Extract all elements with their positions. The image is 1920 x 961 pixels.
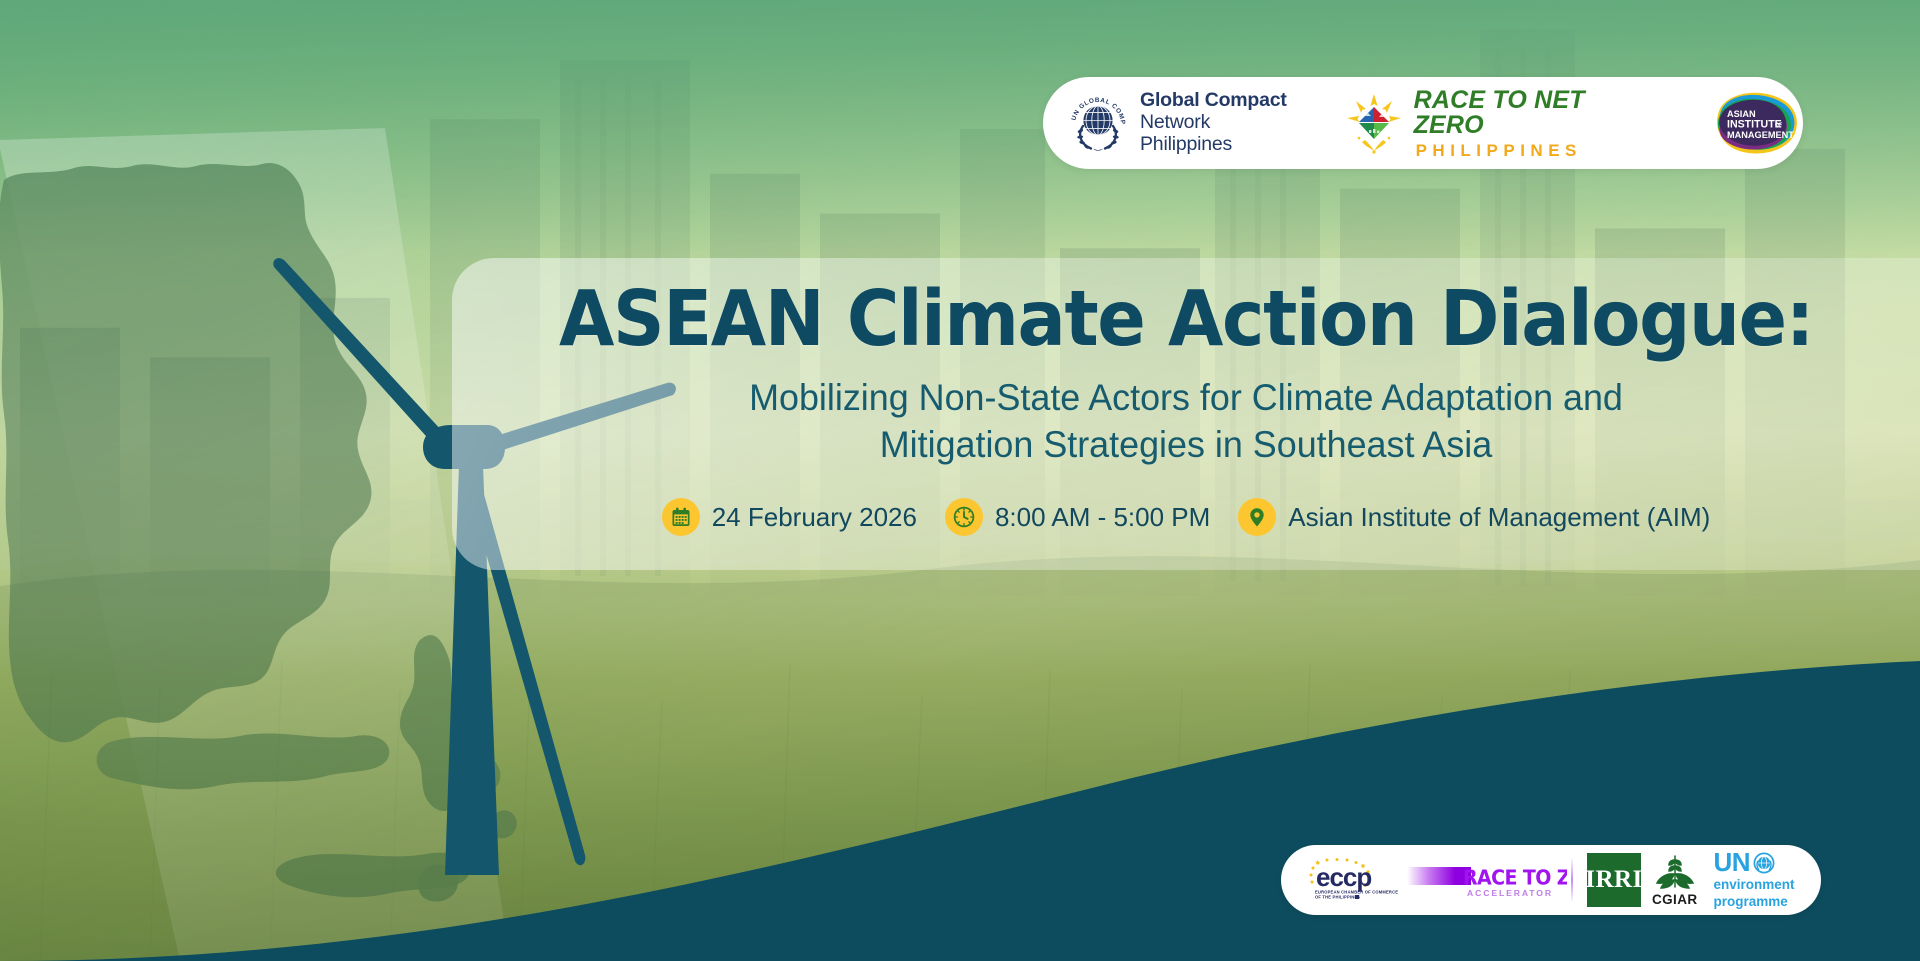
unep-line-1-row: UN (1714, 849, 1795, 877)
svg-text:ACCELERATOR: ACCELERATOR (1467, 888, 1553, 898)
un-global-compact-network-philippines-logo: UN GLOBAL COMPACT (1043, 77, 1307, 169)
race-to-net-zero-wordmark: RACE TO NET ZERO PHILIPPINES (1414, 88, 1661, 159)
aim-blob-icon: ASIAN INSTITUTE OF MANAGEMENT (1707, 89, 1803, 157)
race-to-net-zero-line-2: PHILIPPINES (1414, 142, 1661, 159)
supporting-partner-logo-bar: eccp EUROPEAN CHAMBER OF COMMERCE OF THE… (1281, 845, 1821, 915)
svg-text:ASIAN: ASIAN (1727, 109, 1756, 119)
unep-line-2: environment (1714, 877, 1795, 892)
race-to-net-zero-philippines-logo: RACE TO NET ZERO PHILIPPINES (1307, 77, 1661, 169)
organizer-logo-bar: UN GLOBAL COMPACT (1043, 77, 1803, 169)
event-date-label: 24 February 2026 (712, 502, 917, 533)
title-block: ASEAN Climate Action Dialogue: Mobilizin… (452, 258, 1920, 618)
eccp-logo: eccp EUROPEAN CHAMBER OF COMMERCE OF THE… (1281, 856, 1399, 904)
svg-text:eccp: eccp (1316, 862, 1371, 892)
race-to-zero-wordmark-icon: RACE TO ZERO ACCELERATOR (1407, 857, 1567, 903)
event-venue: Asian Institute of Management (AIM) (1238, 498, 1710, 536)
philippine-sun-diamond-icon (1343, 92, 1405, 154)
page-subtitle: Mobilizing Non-State Actors for Climate … (474, 375, 1898, 468)
irri-logo: IRRI (1573, 853, 1641, 907)
svg-text:OF: OF (1775, 123, 1782, 129)
calendar-icon (662, 498, 700, 536)
svg-text:RACE TO ZERO: RACE TO ZERO (1463, 866, 1567, 890)
teal-bottom-curve (0, 661, 1920, 961)
race-to-net-zero-line-1: RACE TO NET ZERO (1414, 88, 1661, 138)
clock-icon (945, 498, 983, 536)
un-emblem-icon (1753, 852, 1775, 874)
svg-text:MANAGEMENT: MANAGEMENT (1727, 130, 1794, 140)
eccp-wordmark-icon: eccp EUROPEAN CHAMBER OF COMMERCE OF THE… (1303, 856, 1399, 904)
page-title: ASEAN Climate Action Dialogue: (503, 278, 1868, 361)
svg-text:INSTITUTE: INSTITUTE (1727, 119, 1782, 131)
global-compact-line-2: Network Philippines (1140, 111, 1232, 155)
subtitle-line-1: Mobilizing Non-State Actors for Climate … (749, 377, 1623, 418)
event-time-label: 8:00 AM - 5:00 PM (995, 502, 1210, 533)
global-compact-wordmark: Global Compact Network Philippines (1140, 90, 1307, 155)
un-environment-programme-logo: UN environment (1698, 849, 1795, 910)
irri-wordmark-icon: IRRI (1587, 853, 1641, 907)
cgiar-logo: CGIAR (1641, 853, 1698, 907)
cgiar-wordmark-text: CGIAR (1652, 892, 1698, 907)
un-globe-icon: UN GLOBAL COMPACT (1067, 92, 1129, 154)
event-poster: ASEAN Climate Action Dialogue: Mobilizin… (0, 0, 1920, 961)
unep-line-1: UN (1714, 849, 1751, 877)
unep-line-3: programme (1714, 894, 1788, 909)
unep-wordmark: UN environment (1714, 849, 1795, 910)
event-venue-label: Asian Institute of Management (AIM) (1288, 502, 1710, 533)
subtitle-line-2: Mitigation Strategies in Southeast Asia (474, 422, 1898, 469)
cgiar-wheat-icon (1654, 853, 1696, 891)
asian-institute-of-management-logo: ASIAN INSTITUTE OF MANAGEMENT (1661, 77, 1803, 169)
location-pin-icon (1238, 498, 1276, 536)
race-to-zero-accelerator-logo: RACE TO ZERO ACCELERATOR (1399, 857, 1573, 903)
event-time: 8:00 AM - 5:00 PM (945, 498, 1210, 536)
event-details-row: 24 February 2026 8:00 AM (452, 498, 1920, 536)
irri-wordmark-text: IRRI (1585, 866, 1643, 894)
svg-text:OF THE PHILIPPINES: OF THE PHILIPPINES (1315, 895, 1360, 900)
global-compact-line-1: Global Compact (1140, 89, 1287, 111)
event-date: 24 February 2026 (662, 498, 917, 536)
